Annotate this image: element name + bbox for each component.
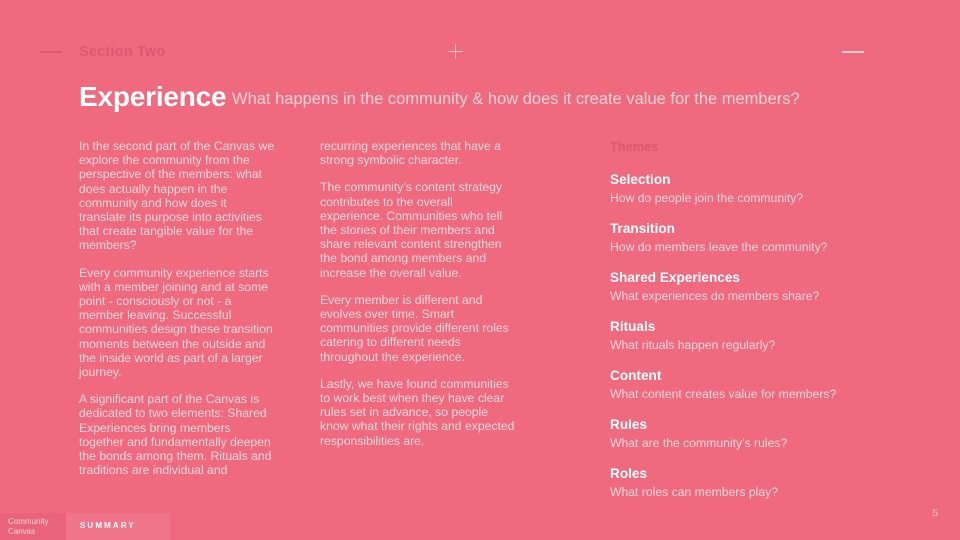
theme-title: Rules (610, 416, 910, 434)
footer-section-label: SUMMARY (80, 521, 136, 530)
paragraph: A significant part of the Canvas is dedi… (79, 392, 276, 477)
theme-title: Transition (610, 220, 910, 238)
themes-column: Themes Selection How do people join the … (610, 139, 910, 514)
paragraph: In the second part of the Canvas we expl… (79, 139, 276, 253)
slide-root: Section Two Experience What happens in t… (0, 0, 960, 540)
theme-item-shared-experiences: Shared Experiences What experiences do m… (610, 269, 910, 304)
paragraph: The community’s content strategy contrib… (320, 180, 517, 279)
theme-item-transition: Transition How do members leave the comm… (610, 220, 910, 255)
dash-right-icon (842, 51, 864, 53)
theme-question: What roles can members play? (610, 484, 910, 500)
top-bar: Section Two (0, 40, 960, 66)
footer-brand-label: Community Canvas (8, 517, 66, 537)
body-column-1: In the second part of the Canvas we expl… (79, 139, 276, 490)
title-row: Experience What happens in the community… (79, 80, 919, 120)
section-label: Section Two (79, 40, 166, 64)
paragraph: Every member is different and evolves ov… (320, 293, 517, 364)
theme-question: What are the community’s rules? (610, 435, 910, 451)
theme-item-rituals: Rituals What rituals happen regularly? (610, 318, 910, 353)
theme-title: Content (610, 367, 910, 385)
theme-item-content: Content What content creates value for m… (610, 367, 910, 402)
theme-title: Roles (610, 465, 910, 483)
page-subtitle: What happens in the community & how does… (232, 87, 800, 111)
page-title: Experience (79, 80, 226, 114)
theme-question: What rituals happen regularly? (610, 337, 910, 353)
paragraph: Every community experience starts with a… (79, 266, 276, 380)
body-column-2: recurring experiences that have a strong… (320, 139, 517, 461)
theme-item-selection: Selection How do people join the communi… (610, 171, 910, 206)
theme-title: Shared Experiences (610, 269, 910, 287)
theme-title: Selection (610, 171, 910, 189)
plus-icon (448, 44, 463, 59)
theme-title: Rituals (610, 318, 910, 336)
paragraph: recurring experiences that have a strong… (320, 139, 517, 167)
footer-section-badge: SUMMARY (66, 513, 170, 540)
themes-heading: Themes (610, 139, 910, 155)
theme-question: What experiences do members share? (610, 288, 910, 304)
theme-item-roles: Roles What roles can members play? (610, 465, 910, 500)
page-number: 5 (932, 506, 938, 520)
dash-left-icon (40, 51, 62, 53)
paragraph: Lastly, we have found communities to wor… (320, 377, 517, 448)
theme-question: How do members leave the community? (610, 239, 910, 255)
footer-brand-badge: Community Canvas (0, 513, 66, 540)
theme-item-rules: Rules What are the community’s rules? (610, 416, 910, 451)
theme-question: What content creates value for members? (610, 386, 910, 402)
theme-question: How do people join the community? (610, 190, 910, 206)
